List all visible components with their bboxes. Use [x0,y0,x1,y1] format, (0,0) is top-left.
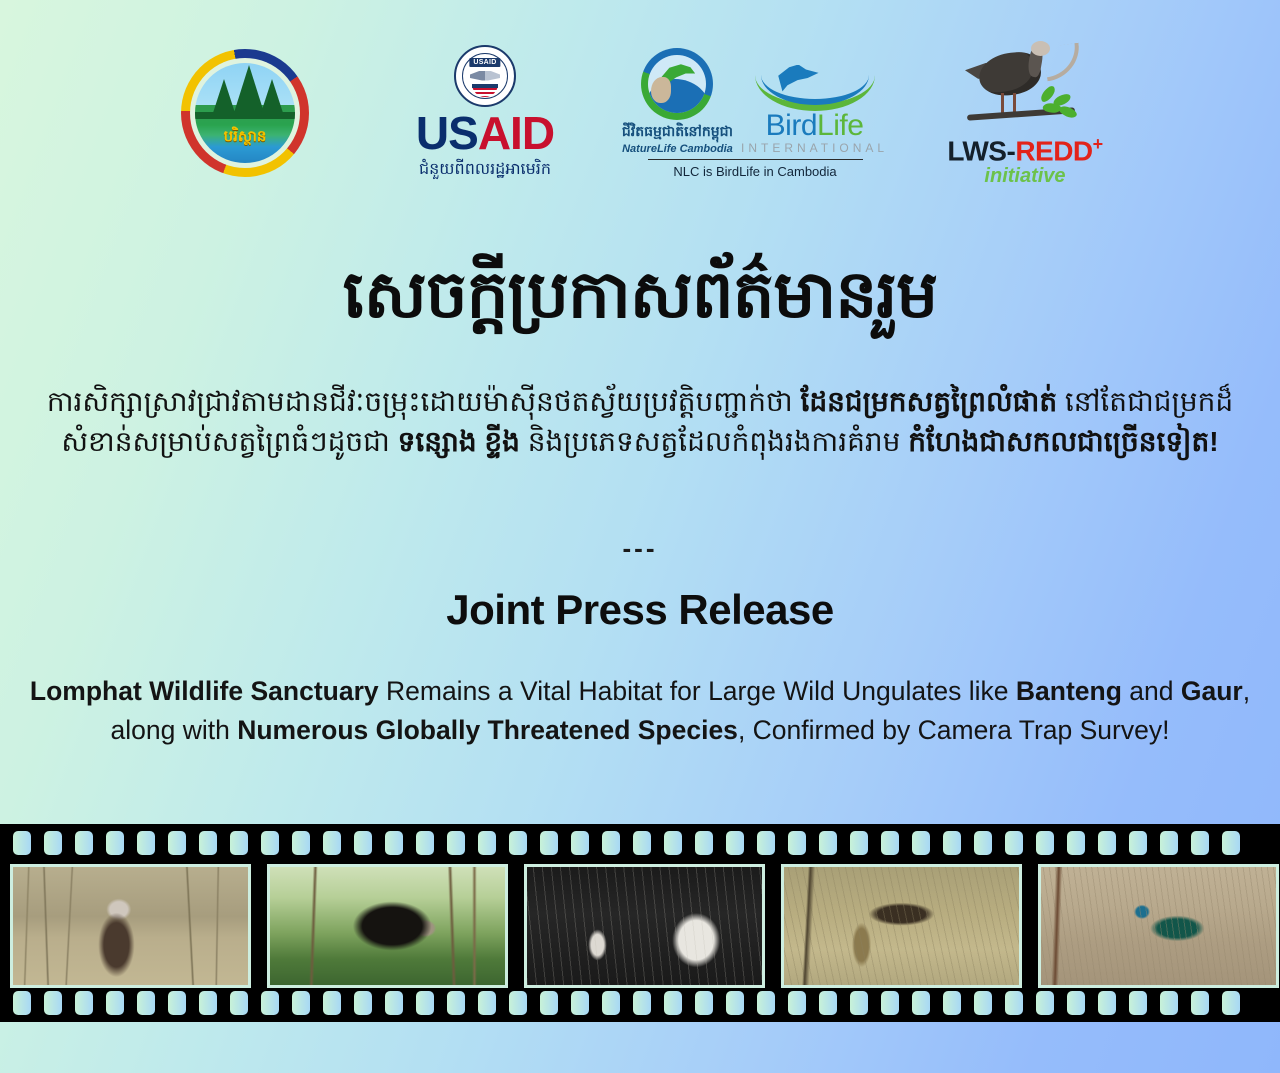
filmstrip-perforations-top [0,829,1280,857]
usaid-wordmark: USAID [416,110,554,156]
camera-trap-photo-filmstrip [0,824,1280,1022]
perforation [757,831,775,855]
perforation [44,831,62,855]
english-text-4: , Confirmed by Camera Trap Survey! [738,715,1170,745]
khmer-body-paragraph: ការសិក្សាស្រាវជ្រាវតាមដានជីវៈចម្រុះដោយម៉… [40,382,1240,462]
perforation [13,831,31,855]
globe-interior [648,55,706,113]
frame-peafowl [1038,864,1279,988]
perforation [230,991,248,1015]
perforation [106,991,124,1015]
perforation [230,831,248,855]
perforation [726,831,744,855]
birdlife-word-life: Life [817,109,863,142]
perforation [292,831,310,855]
perforation [137,991,155,1015]
joint-press-release-heading: Joint Press Release [0,586,1280,634]
frame-gaur [267,864,508,988]
perforation [1191,831,1209,855]
perforation [912,831,930,855]
perforation [633,991,651,1015]
frame-marten [781,864,1022,988]
usaid-logo: USAID USAID ជំនួយពីពលរដ្ឋអាមេរិក [360,45,610,182]
naturelife-cambodia-logo: ជីវិតធម្មជាតិនៅកម្ពុជា NatureLife Cambod… [622,48,733,155]
naturelife-birdlife-row: ជីវិតធម្មជាតិនៅកម្ពុជា NatureLife Cambod… [622,48,888,155]
ibis-leg-right [1013,93,1016,113]
logo-bar: បរិស្ថាន USAID USAID ជំនួយពីពលរដ្ឋអាមេរិ… [0,28,1280,198]
section-divider: --- [0,533,1280,564]
perforation [1036,991,1054,1015]
perforation [1098,831,1116,855]
giant-ibis-icon [955,39,1095,135]
rgc-forestry-logo: បរិស្ថាន [130,49,360,177]
macaque-camera-trap-photo [13,867,248,985]
perforation [1129,831,1147,855]
perforation [261,831,279,855]
perforation [1067,831,1085,855]
english-body-paragraph: Lomphat Wildlife Sanctuary Remains a Vit… [14,672,1266,750]
khmer-headline: សេចក្តីប្រកាសព័ត៌មានរួម [0,258,1280,331]
perforation [943,831,961,855]
perforation [540,831,558,855]
usaid-khmer-tagline: ជំនួយពីពលរដ្ឋអាមេរិក [419,158,551,182]
perforation [757,991,775,1015]
filmstrip-frames [0,864,1280,982]
redd-plus-sign: + [1093,134,1103,154]
seal-landscape: បរិស្ថាន [195,63,295,163]
nlc-caption-wrap: NLC is BirdLife in Cambodia [648,159,863,179]
perforation [1129,991,1147,1015]
perforation [416,831,434,855]
english-text-1: Remains a Vital Habitat for Large Wild U… [379,676,1016,706]
perforation [447,991,465,1015]
caption-divider-rule [648,159,863,160]
perforation [44,991,62,1015]
perforation [726,991,744,1015]
perforation [1222,831,1240,855]
lws-word: LWS- [947,135,1015,166]
banteng-night-camera-trap-photo [527,867,762,985]
perforation [819,831,837,855]
perforation [478,991,496,1015]
perforation [788,831,806,855]
perforation [354,831,372,855]
naturelife-birdlife-logo-group: ជីវិតធម្មជាតិនៅកម្ពុជា NatureLife Cambod… [610,48,900,179]
naturelife-english-name: NatureLife Cambodia [622,143,733,155]
birdlife-wordmark: BirdLife [766,111,864,141]
perforation [571,831,589,855]
english-text-2: and [1122,676,1181,706]
perforation [1036,831,1054,855]
perforation [974,831,992,855]
perforation [199,991,217,1015]
naturelife-globe-icon [641,48,713,120]
perforation [509,831,527,855]
perforation [1191,991,1209,1015]
perforation [664,831,682,855]
perforation [912,991,930,1015]
usaid-seal-icon: USAID [454,45,516,107]
perforation [695,991,713,1015]
perforation [168,991,186,1015]
perforation [602,991,620,1015]
perforation [13,991,31,1015]
perforation [75,831,93,855]
khmer-line2-bold: ទន្សោង ខ្ទីង [398,426,520,457]
perforation [943,991,961,1015]
perforation [788,991,806,1015]
marten-camera-trap-photo [784,867,1019,985]
lws-redd-initiative-logo: LWS-REDD+ initiative [900,39,1150,187]
perforation [323,991,341,1015]
press-release-poster: បរិស្ថាន USAID USAID ជំនួយពីពលរដ្ឋអាមេរិ… [0,0,1280,1073]
birdlife-international-logo: BirdLife INTERNATIONAL [741,65,888,155]
perforation [881,991,899,1015]
perforation [633,831,651,855]
perforation [695,831,713,855]
perforation [819,991,837,1015]
perforation [447,831,465,855]
gaur-camera-trap-photo [270,867,505,985]
naturelife-khmer-name: ជីវិតធម្មជាតិនៅកម្ពុជា [622,122,733,143]
perforation [540,991,558,1015]
perforation [478,831,496,855]
perforation [292,991,310,1015]
perforation [75,991,93,1015]
birdlife-word-bird: Bird [766,109,817,142]
perforation [385,831,403,855]
ibis-beak [1043,42,1083,81]
perforation [106,831,124,855]
perforation [323,831,341,855]
perforation [416,991,434,1015]
perforation [385,991,403,1015]
usaid-word-aid: AID [478,107,554,159]
lws-initiative-label: initiative [984,165,1065,187]
filmstrip-perforations-bottom [0,989,1280,1017]
english-bold-2: Banteng [1016,676,1122,706]
perforation [881,831,899,855]
seal-band [195,112,295,119]
perforation [1222,991,1240,1015]
nlc-caption: NLC is BirdLife in Cambodia [673,164,836,179]
perforation [1005,831,1023,855]
perforation [168,831,186,855]
ibis-leg-left [1001,93,1004,113]
usaid-word-us: US [416,107,478,159]
perforation [509,991,527,1015]
forestry-seal-icon: បរិស្ថាន [181,49,309,177]
frame-macaque [10,864,251,988]
perforation [850,831,868,855]
perforation [850,991,868,1015]
khmer-line1-plain: ការសិក្សាស្រាវជ្រាវតាមដានជីវៈចម្រុះដោយម៉… [47,386,801,417]
perforation [664,991,682,1015]
birdlife-swoosh-icon [755,65,875,111]
english-bold-3: Gaur [1181,676,1243,706]
perforation [137,831,155,855]
english-bold-1: Lomphat Wildlife Sanctuary [30,676,379,706]
usaid-seal-chip: USAID [469,58,500,67]
khmer-line3: កំហែងជាសកលជាច្រើនទៀត! [908,426,1218,457]
perforation [199,831,217,855]
green-peafowl-camera-trap-photo [1041,867,1276,985]
redd-word: REDD [1015,135,1092,166]
birdlife-international-label: INTERNATIONAL [741,141,888,155]
perforation [602,831,620,855]
perforation [1098,991,1116,1015]
english-bold-4: Numerous Globally Threatened Species [237,715,738,745]
perforation [1160,991,1178,1015]
frame-banteng [524,864,765,988]
perforation [354,991,372,1015]
perforation [974,991,992,1015]
perforation [1067,991,1085,1015]
khmer-line2-tail: និងប្រភេទសត្វដែលកំពុងរងការគំរាម [520,426,900,457]
perforation [571,991,589,1015]
perforation [261,991,279,1015]
perforation [1160,831,1178,855]
seed-shape [651,77,671,103]
lws-redd-wordmark: LWS-REDD+ [947,135,1102,165]
khmer-line1-bold: ដែនជម្រកសត្វព្រៃលំផាត់ [800,386,1057,417]
seal-khmer-label: បរិស្ថាន [195,127,295,149]
perforation [1005,991,1023,1015]
